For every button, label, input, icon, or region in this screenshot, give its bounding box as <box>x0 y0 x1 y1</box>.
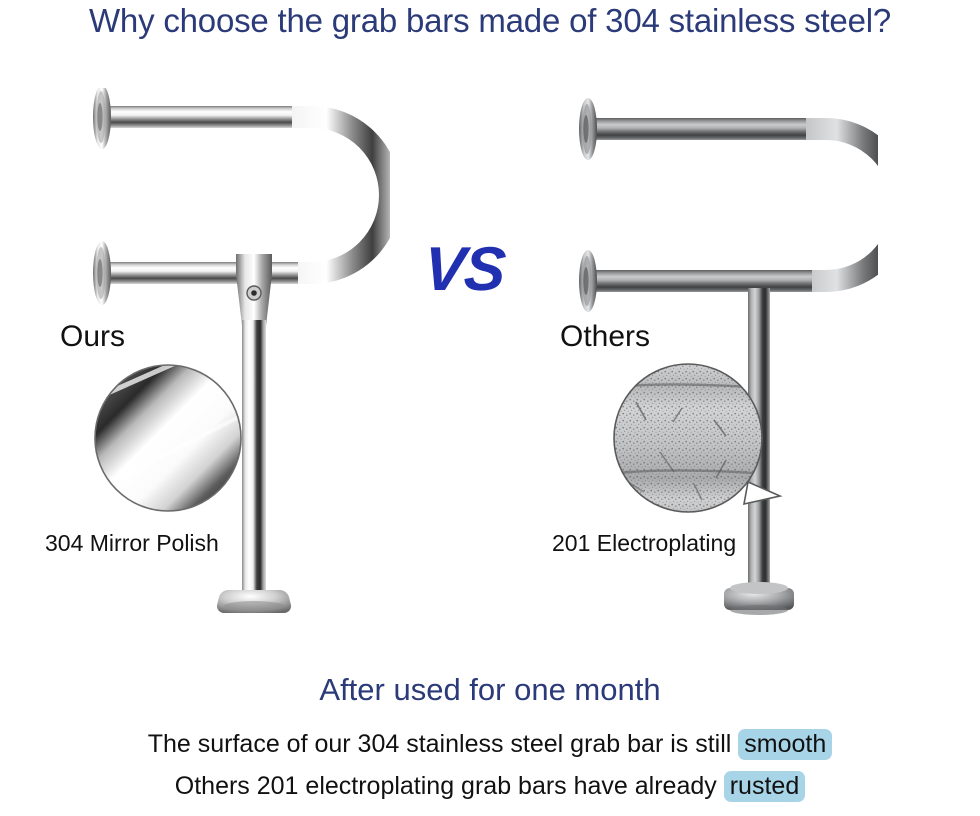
caption-mirror-polish: 304 Mirror Polish <box>45 530 219 557</box>
result-line-others: Others 201 electroplating grab bars have… <box>0 772 980 801</box>
highlight-smooth: smooth <box>738 729 832 760</box>
magnifier-rusted-surface <box>608 356 793 536</box>
highlight-rusted: rusted <box>724 771 805 802</box>
section-heading-after-one-month: After used for one month <box>0 672 980 708</box>
page-title: Why choose the grab bars made of 304 sta… <box>0 2 980 40</box>
label-ours: Ours <box>60 320 125 354</box>
magnifier-mirror-polish <box>86 356 256 531</box>
label-others: Others <box>560 320 650 354</box>
result-line-ours: The surface of our 304 stainless steel g… <box>0 730 980 759</box>
versus-label: VS <box>422 234 508 305</box>
caption-electroplating: 201 Electroplating <box>552 530 736 557</box>
result-line-others-text: Others 201 electroplating grab bars have… <box>175 772 724 800</box>
infographic-page: Why choose the grab bars made of 304 sta… <box>0 0 980 816</box>
result-line-ours-text: The surface of our 304 stainless steel g… <box>148 730 739 758</box>
